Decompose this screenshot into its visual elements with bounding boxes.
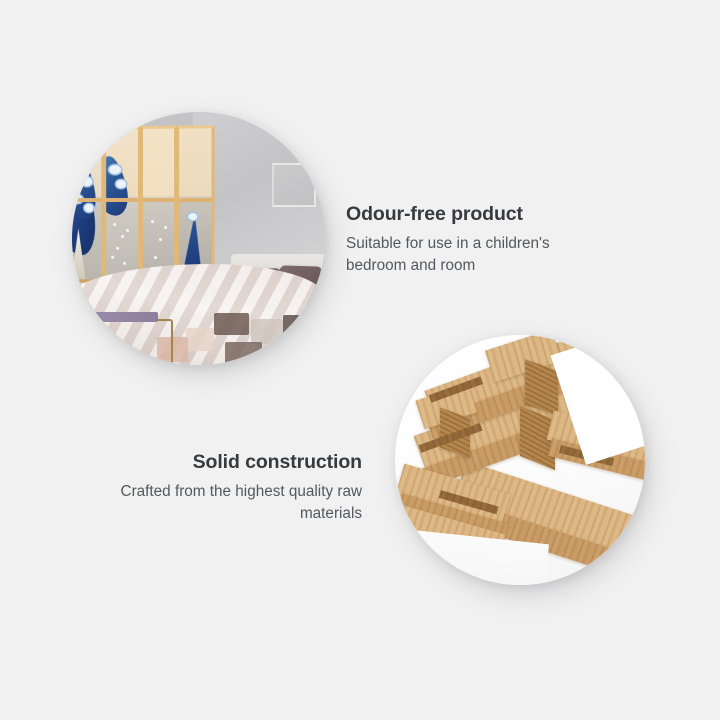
timber-photo-inner — [395, 335, 645, 585]
folded-blanket — [92, 312, 158, 322]
wave-foam — [116, 180, 126, 188]
timber-scene — [395, 335, 645, 585]
bedroom-with-folding-screen-photo — [72, 112, 325, 365]
feature-text-odour-free: Odour-free product Suitable for use in a… — [346, 204, 596, 276]
wall-picture-frame — [272, 163, 316, 207]
great-wave-art — [72, 129, 102, 279]
bedroom-scene — [72, 112, 325, 365]
bedroom-photo-inner — [72, 112, 325, 365]
feature-banner: Odour-free product Suitable for use in a… — [0, 0, 720, 720]
screen-panel-art — [179, 128, 211, 280]
great-wave-art — [107, 129, 138, 280]
feature-description: Crafted from the highest quality raw mat… — [112, 481, 362, 524]
wave-foam — [81, 177, 92, 186]
quilt-patch — [214, 313, 248, 335]
quilt-patch — [225, 342, 262, 365]
stacked-timber-planks-photo — [395, 335, 645, 585]
wave-foam — [188, 213, 197, 220]
screen-panel — [105, 126, 141, 283]
feature-title: Odour-free product — [346, 204, 596, 226]
wave-foam — [109, 165, 121, 174]
feature-text-solid-construction: Solid construction Crafted from the high… — [112, 452, 362, 524]
feature-title: Solid construction — [112, 452, 362, 474]
quilt-patch — [251, 319, 283, 343]
folding-screen — [72, 125, 214, 283]
screen-panel-art — [143, 129, 175, 281]
screen-panel — [72, 126, 105, 282]
wicker-basket — [97, 319, 173, 365]
quilt-patch — [283, 315, 317, 342]
wave-foam — [73, 195, 83, 203]
screen-panel — [141, 126, 178, 284]
screen-panel — [177, 125, 214, 283]
feature-description: Suitable for use in a children's bedroom… — [346, 233, 596, 276]
quilt-patch — [186, 328, 215, 350]
